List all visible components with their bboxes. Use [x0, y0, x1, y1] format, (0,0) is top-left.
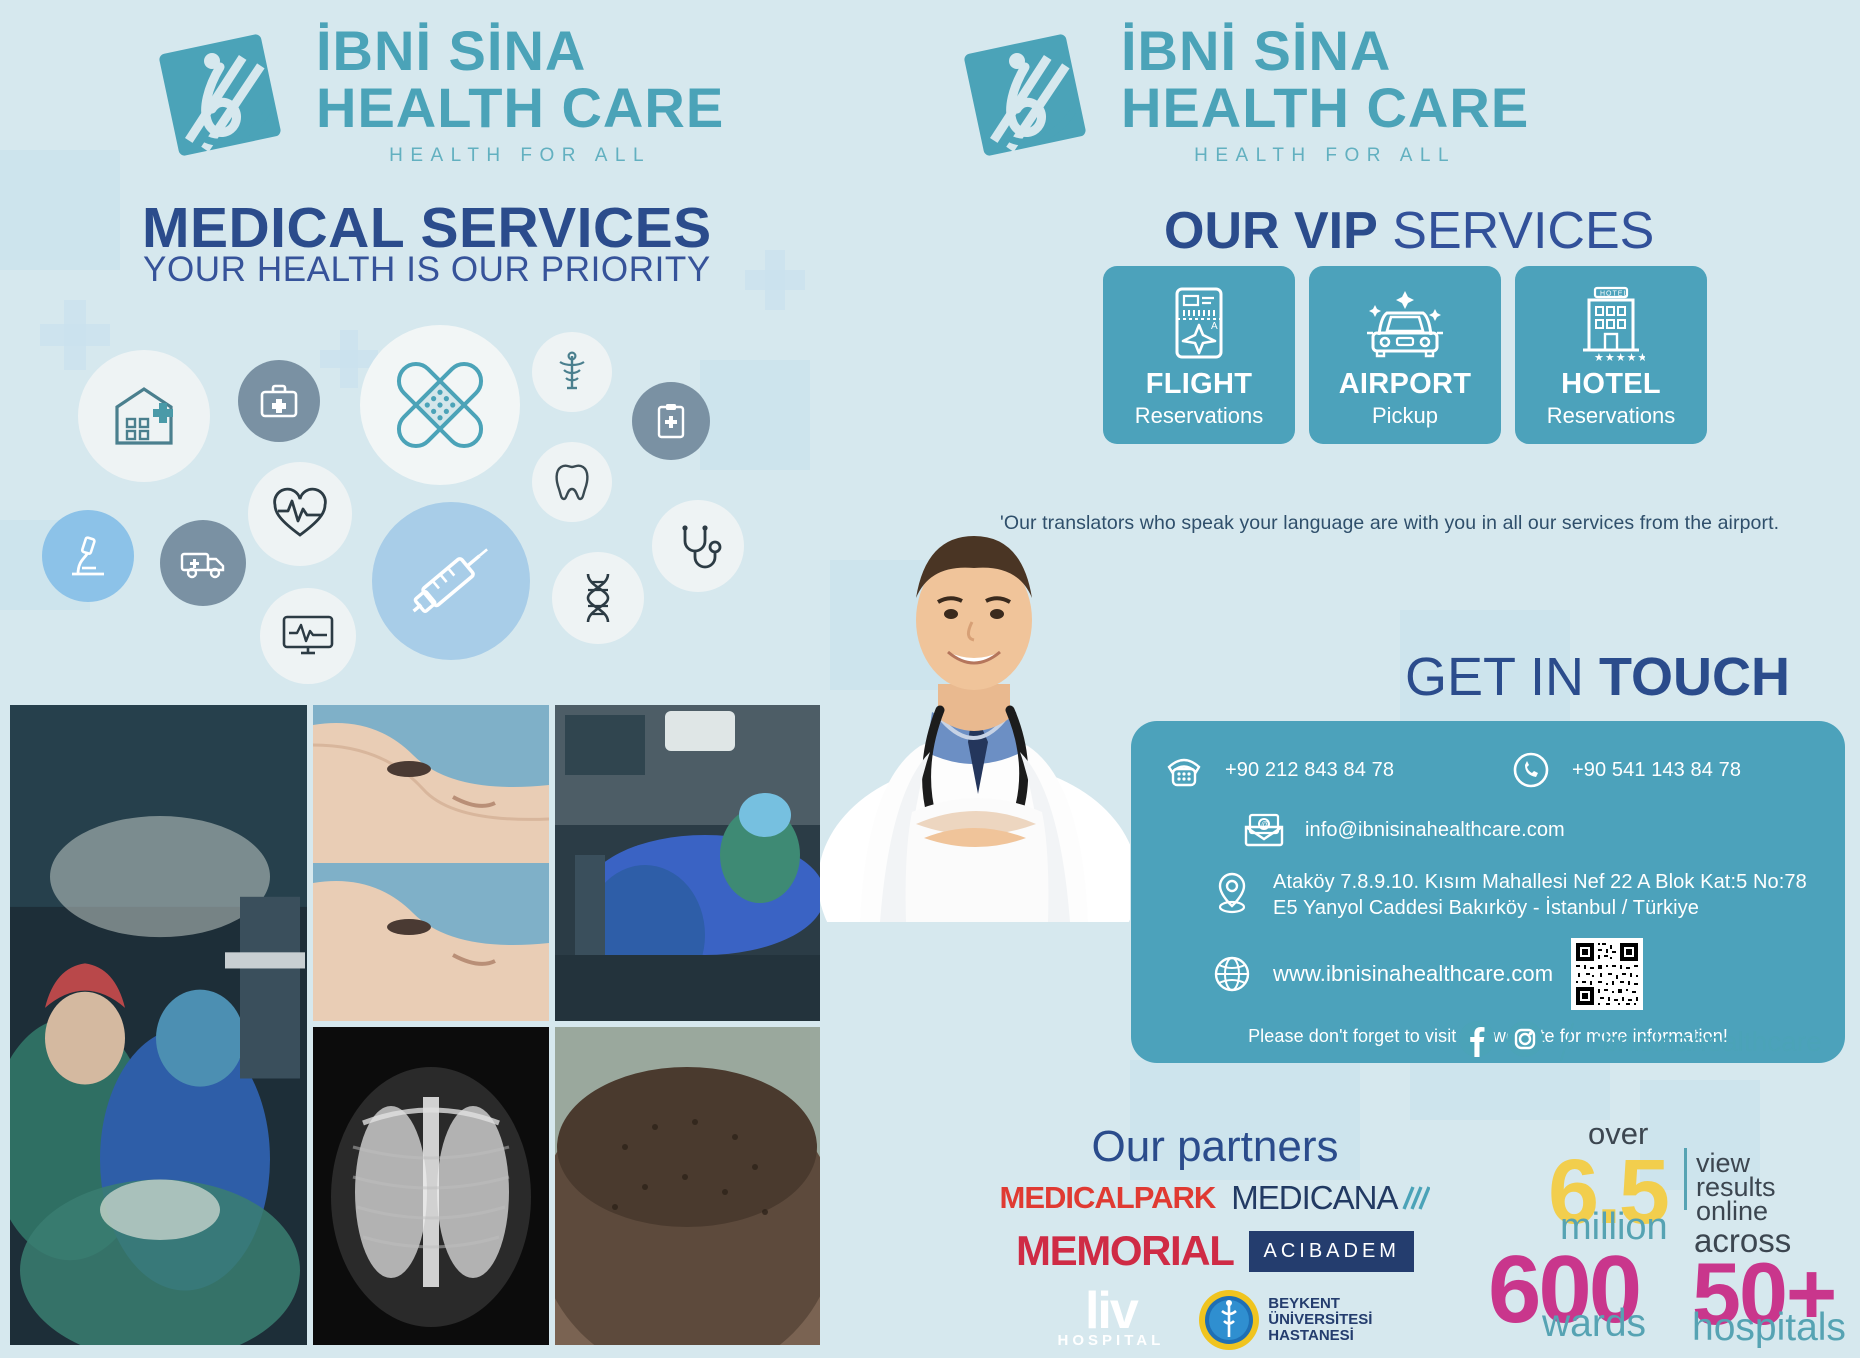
vip-card-subtitle: Reservations	[1547, 403, 1675, 429]
contact-whatsapp[interactable]: +90 541 143 84 78	[1508, 747, 1815, 793]
ibni-sina-logo-icon	[150, 25, 290, 165]
logo-line1: İBNİ SİNA	[1121, 22, 1529, 79]
beykent-l2: ÜNİVERSİTESİ	[1268, 1312, 1372, 1328]
globe-icon	[1209, 951, 1255, 997]
bg-block	[0, 150, 120, 270]
stat-hospitals-label: hospitals	[1692, 1306, 1846, 1350]
partners-row-1: MEDICALPARK MEDICANA	[1000, 1179, 1430, 1217]
vip-card-title: AIRPORT	[1339, 368, 1472, 401]
social-links: ibnisinahealthcare	[1458, 1020, 1822, 1063]
partners-row-2: MEMORIAL ACIBADEM	[1000, 1227, 1430, 1275]
email-envelope-icon: @	[1241, 807, 1287, 853]
syringe-icon-bubble	[372, 502, 530, 660]
hotel-building-icon: HOTEL ★★★★★	[1577, 282, 1645, 366]
doctor-photo	[820, 452, 1130, 922]
ambulance-icon-bubble	[160, 520, 246, 606]
bg-block	[700, 360, 810, 470]
stat-wards-label: wards	[1542, 1302, 1646, 1346]
syringe-icon	[395, 525, 507, 637]
hair-transplant-photo	[555, 1027, 820, 1345]
partner-logo-beykent: BEYKENT ÜNİVERSİTESİ HASTANESİ	[1198, 1289, 1372, 1351]
address-lines: Ataköy 7.8.9.10. Kısım Mahallesi Nef 22 …	[1273, 869, 1807, 922]
hospital-icon-bubble	[78, 350, 210, 482]
first-aid-kit-icon-bubble	[238, 360, 320, 442]
qr-code-icon[interactable]	[1571, 938, 1643, 1010]
bandage-cross-icon	[375, 340, 505, 470]
email-address: info@ibnisinahealthcare.com	[1305, 817, 1565, 843]
partners-section: Our partners MEDICALPARK MEDICANA MEMORI…	[1000, 1125, 1430, 1351]
stat-divider	[1684, 1148, 1687, 1210]
stats-section: over 6.5 million view results online 600…	[1420, 1110, 1860, 1358]
vip-card-flight[interactable]: A FLIGHT Reservations	[1103, 266, 1295, 444]
medicalpark-part2: PARK	[1134, 1180, 1216, 1215]
surgery-team-photo	[10, 705, 307, 1345]
heartbeat-icon-bubble	[248, 462, 352, 566]
clipboard-medical-icon-bubble	[632, 382, 710, 460]
vip-card-hotel[interactable]: HOTEL ★★★★★ HOTEL Reservations	[1515, 266, 1707, 444]
heartbeat-icon	[267, 481, 333, 547]
ecg-monitor-icon-bubble	[260, 588, 356, 684]
instagram-icon[interactable]	[1506, 1020, 1544, 1063]
car-front-sparkle-icon	[1361, 282, 1449, 366]
contact-address: Ataköy 7.8.9.10. Kısım Mahallesi Nef 22 …	[1161, 869, 1815, 922]
operating-room-photo	[555, 705, 820, 1021]
vip-services-title: OUR VIP SERVICES	[1164, 205, 1654, 257]
hospital-icon	[107, 379, 181, 453]
contact-website[interactable]: www.ibnisinahealthcare.com	[1161, 938, 1815, 1010]
vip-title-bold: OUR VIP	[1164, 202, 1378, 260]
location-pin-icon	[1209, 869, 1255, 915]
address-line1: Ataköy 7.8.9.10. Kısım Mahallesi Nef 22 …	[1273, 871, 1807, 893]
logo-line2: HEALTH CARE	[1121, 79, 1529, 136]
separator-slash	[1560, 1022, 1574, 1061]
svg-text:HOTEL: HOTEL	[1600, 291, 1628, 298]
contact-box: +90 212 843 84 78 +90 541 143 84 78 @	[1131, 721, 1845, 1063]
telephone-icon	[1161, 747, 1207, 793]
bg-cross	[40, 300, 110, 370]
chest-xray-photo	[313, 1027, 549, 1345]
beykent-l3: HASTANESİ	[1268, 1328, 1372, 1344]
facebook-icon[interactable]	[1458, 1020, 1496, 1063]
logo-right: İBNİ SİNA HEALTH CARE HEALTH FOR ALL	[955, 22, 1529, 167]
address-line2: E5 Yanyol Caddesi Bakırköy - İstanbul / …	[1273, 897, 1699, 919]
partners-row-3: liv HOSPITAL BEYKENT ÜNİVERSİTESİ HASTAN…	[1000, 1289, 1430, 1351]
git-bold: TOUCH	[1599, 647, 1790, 707]
page-subtitle: YOUR HEALTH IS OUR PRIORITY	[143, 252, 711, 287]
logo-tagline: HEALTH FOR ALL	[316, 145, 724, 167]
liv-wordmark: liv	[1058, 1291, 1165, 1333]
contact-phones-row: +90 212 843 84 78 +90 541 143 84 78	[1161, 747, 1815, 793]
microscope-icon	[62, 530, 114, 582]
rhinoplasty-before-photo	[313, 705, 549, 1021]
vip-card-subtitle: Pickup	[1372, 403, 1438, 429]
partner-logo-acibadem: ACIBADEM	[1249, 1231, 1413, 1272]
clipboard-medical-icon	[650, 400, 692, 442]
brochure-page: İBNİ SİNA HEALTH CARE HEALTH FOR ALL MED…	[0, 0, 1860, 1358]
vip-cards: A FLIGHT Reservations	[1103, 266, 1707, 444]
get-in-touch-title: GET IN TOUCH	[1405, 650, 1790, 704]
medicalpark-part1: MEDICAL	[1000, 1180, 1134, 1215]
contact-email[interactable]: @ info@ibnisinahealthcare.com	[1161, 807, 1815, 853]
bandage-cross-icon-bubble	[360, 325, 520, 485]
beykent-l1: BEYKENT	[1268, 1296, 1372, 1312]
partners-title: Our partners	[1000, 1125, 1430, 1169]
svg-text:A: A	[1211, 321, 1218, 332]
tooth-icon-bubble	[532, 442, 612, 522]
website-url: www.ibnisinahealthcare.com	[1273, 959, 1553, 988]
partner-logo-medicalpark: MEDICALPARK	[1000, 1180, 1216, 1216]
logo-line1: İBNİ SİNA	[316, 22, 724, 79]
whatsapp-icon	[1508, 747, 1554, 793]
microscope-icon-bubble	[42, 510, 134, 602]
vip-card-title: HOTEL	[1561, 368, 1661, 401]
ecg-monitor-icon	[279, 611, 337, 661]
logo-line2: HEALTH CARE	[316, 79, 724, 136]
boarding-pass-plane-icon: A	[1167, 282, 1231, 366]
page-title-medical-services: MEDICAL SERVICES	[142, 200, 712, 257]
vip-card-subtitle: Reservations	[1135, 403, 1263, 429]
ibni-sina-logo-icon	[955, 25, 1095, 165]
medicana-text: MEDICANA	[1231, 1179, 1397, 1217]
landline-number: +90 212 843 84 78	[1225, 757, 1394, 783]
svg-text:★★★★★: ★★★★★	[1594, 352, 1645, 364]
stethoscope-icon	[671, 519, 725, 573]
vip-card-airport[interactable]: AIRPORT Pickup	[1309, 266, 1501, 444]
social-handle: ibnisinahealthcare	[1596, 1026, 1822, 1058]
partner-logo-liv-hospital: liv HOSPITAL	[1058, 1291, 1165, 1350]
dna-icon	[574, 570, 622, 626]
vip-title-light: SERVICES	[1392, 202, 1654, 260]
first-aid-kit-icon	[256, 378, 302, 424]
logo-tagline: HEALTH FOR ALL	[1121, 145, 1529, 167]
dna-icon-bubble	[552, 552, 644, 644]
logo-left: İBNİ SİNA HEALTH CARE HEALTH FOR ALL	[150, 22, 724, 167]
git-light: GET IN	[1405, 647, 1599, 707]
vip-card-title: FLIGHT	[1146, 368, 1253, 401]
stethoscope-icon-bubble	[652, 500, 744, 592]
caduceus-icon-bubble	[532, 332, 612, 412]
partner-logo-memorial: MEMORIAL	[1016, 1227, 1233, 1275]
liv-hospital-label: HOSPITAL	[1058, 1332, 1165, 1349]
contact-landline[interactable]: +90 212 843 84 78	[1161, 747, 1468, 793]
partner-logo-medicana: MEDICANA	[1231, 1179, 1430, 1217]
beykent-text: BEYKENT ÜNİVERSİTESİ HASTANESİ	[1268, 1296, 1372, 1343]
beykent-seal-icon	[1198, 1289, 1260, 1351]
caduceus-icon	[548, 348, 596, 396]
bg-cross	[745, 250, 805, 310]
tooth-icon	[551, 459, 593, 505]
ambulance-icon	[177, 542, 229, 584]
whatsapp-number: +90 541 143 84 78	[1572, 757, 1741, 783]
